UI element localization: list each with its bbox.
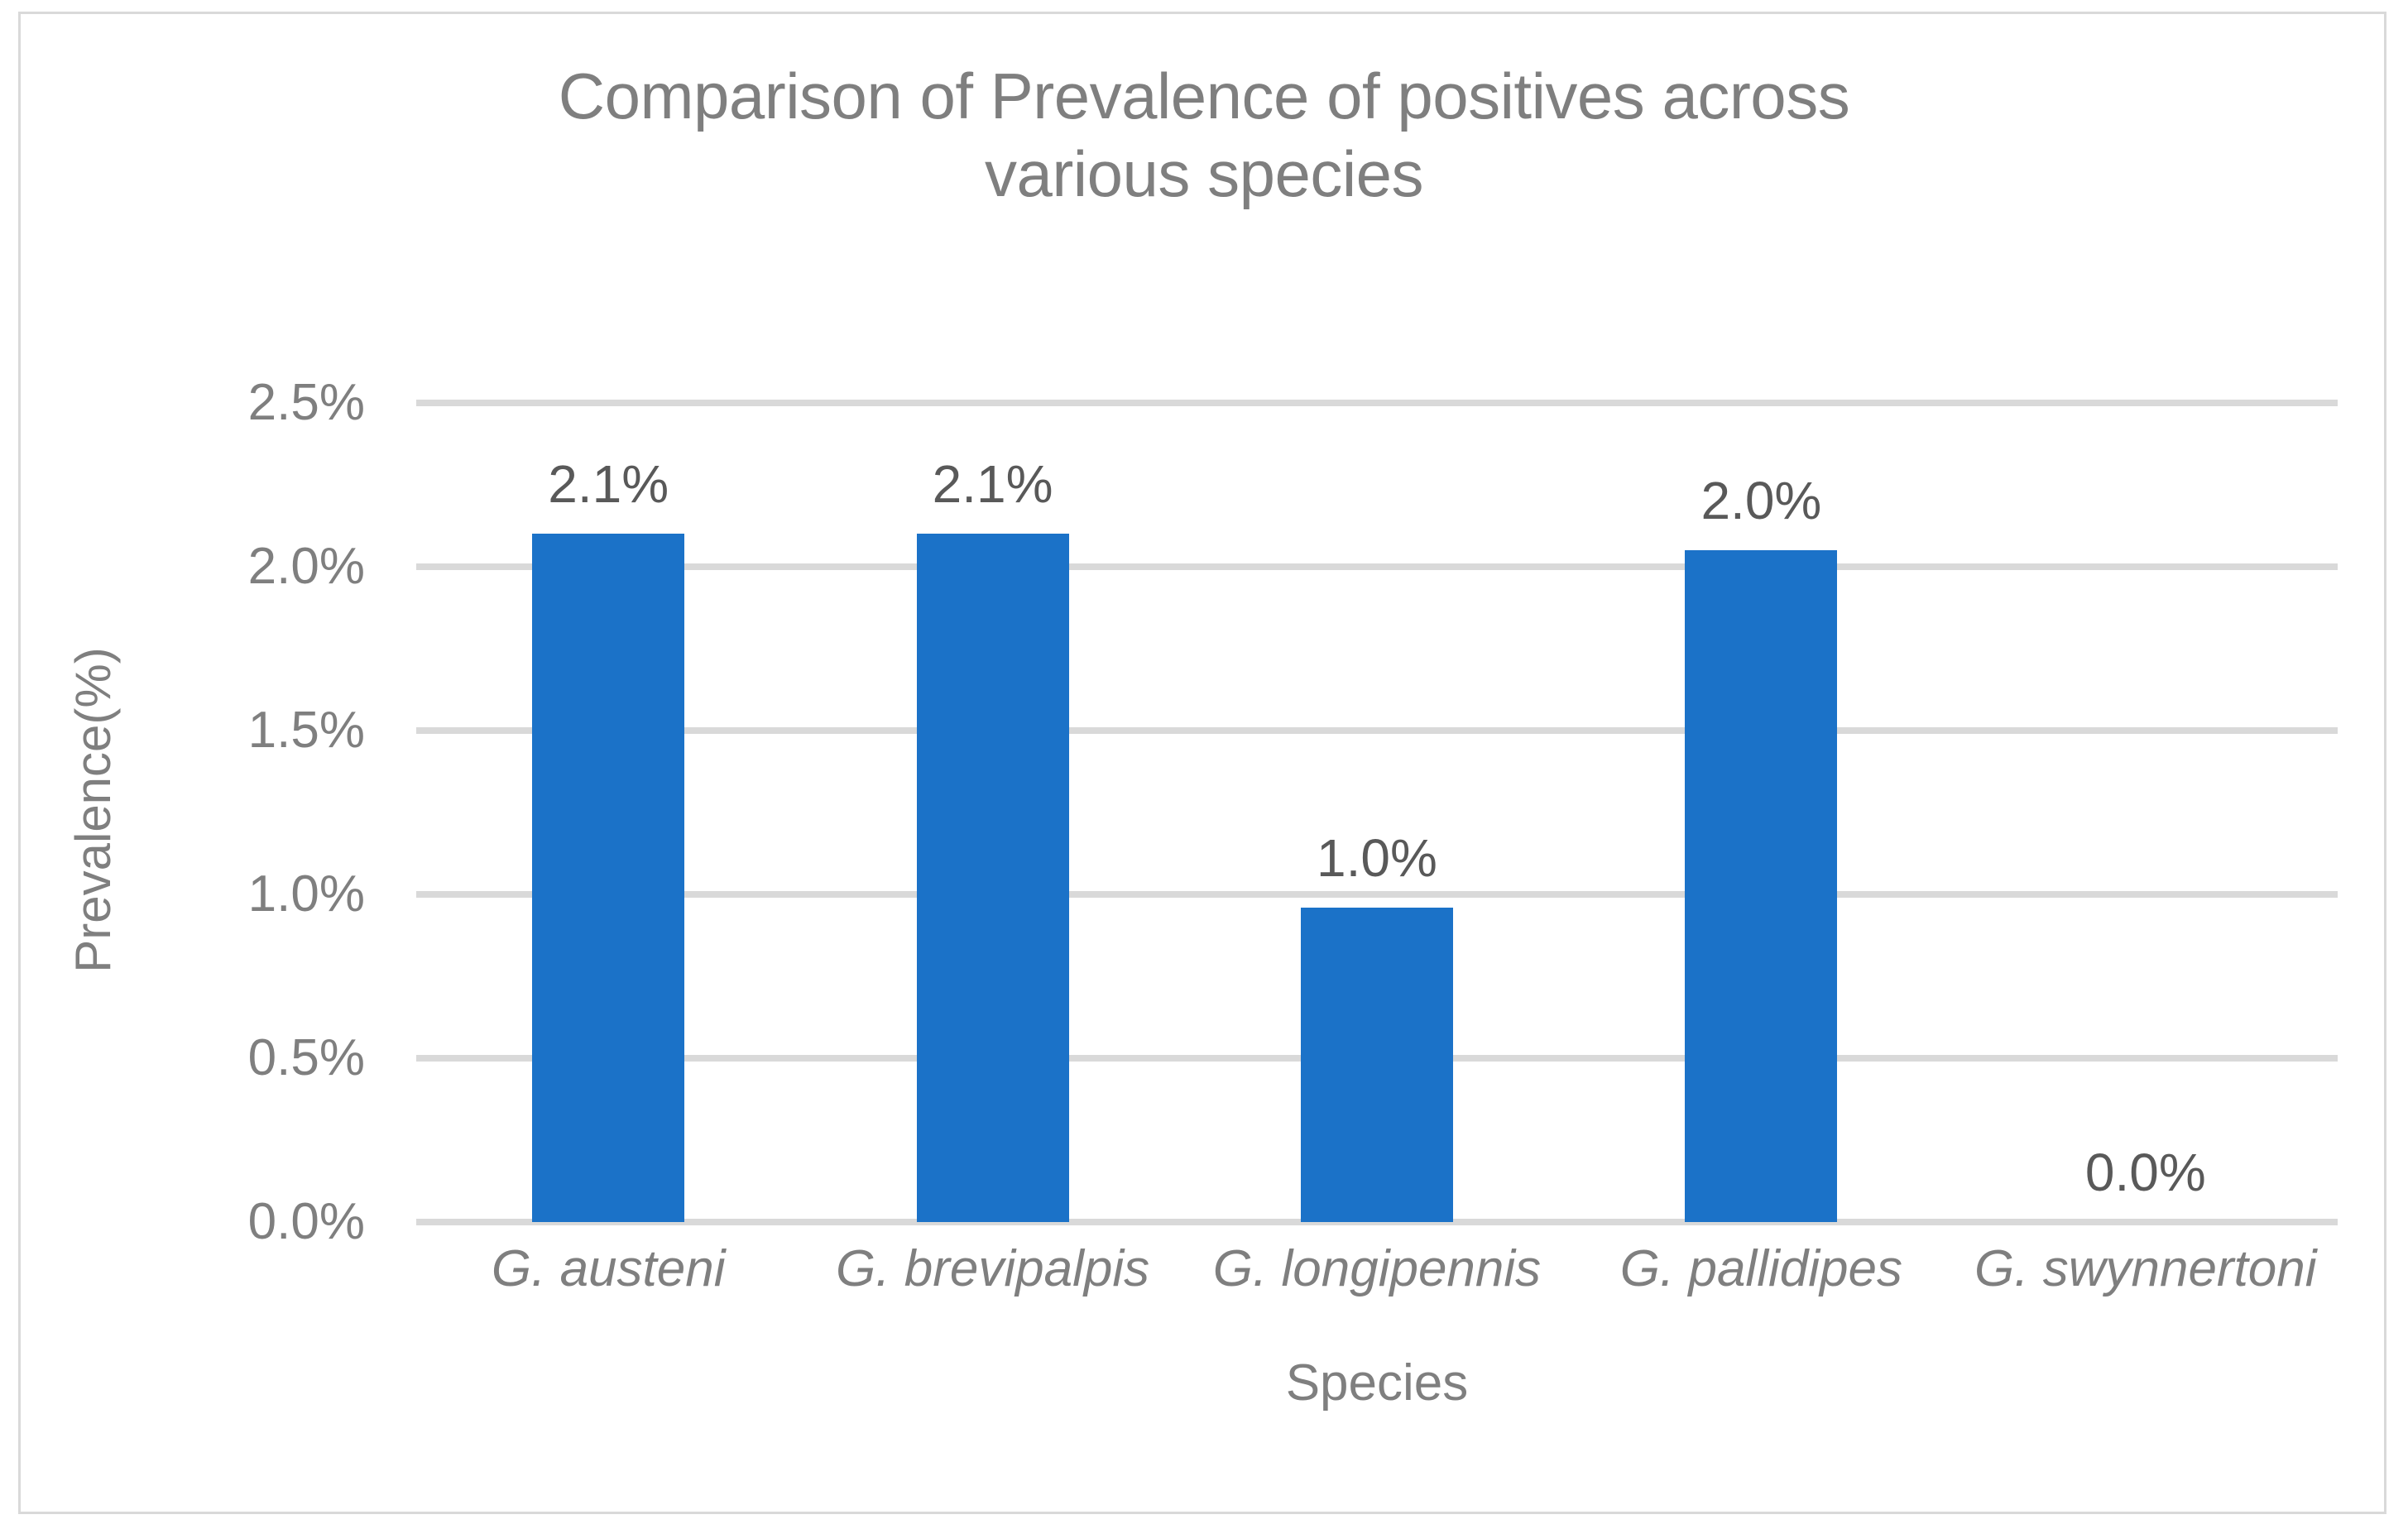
bar-value-label: 2.0% — [1700, 474, 1821, 527]
y-axis-tick-label: 2.5% — [248, 377, 365, 429]
bar[interactable] — [917, 534, 1069, 1222]
bar-slot: 2.1% — [800, 403, 1184, 1222]
x-axis-tick-label: G. swynnertoni — [1954, 1235, 2338, 1303]
bar-value-label: 0.0% — [2085, 1146, 2206, 1199]
y-axis-tick-label: 0.5% — [248, 1033, 365, 1084]
chart-title-line-1: Comparison of Prevalence of positives ac… — [170, 57, 2238, 135]
x-axis-tick-label: G. brevipalpis — [800, 1235, 1184, 1303]
y-axis-tick-label: 0.0% — [248, 1196, 365, 1248]
bar[interactable] — [1685, 550, 1837, 1222]
x-axis-tick-label: G. pallidipes — [1569, 1235, 1953, 1303]
x-axis-tick-labels: G. austeniG. brevipalpisG. longipennisG.… — [416, 1235, 2338, 1310]
y-axis-tick-label: 1.5% — [248, 705, 365, 756]
bar-value-label: 2.1% — [548, 458, 669, 510]
bar-slot: 1.0% — [1185, 403, 1569, 1222]
chart-title: Comparison of Prevalence of positives ac… — [170, 57, 2238, 213]
bar-slot: 2.0% — [1569, 403, 1953, 1222]
bar[interactable] — [1301, 908, 1453, 1222]
x-axis-tick-label: G. austeni — [416, 1235, 800, 1303]
chart-frame: Comparison of Prevalence of positives ac… — [18, 12, 2386, 1514]
bar-slot: 0.0% — [1954, 403, 2338, 1222]
x-axis-tick-label: G. longipennis — [1185, 1235, 1569, 1303]
y-axis-tick-labels: 2.5%2.0%1.5%1.0%0.5%0.0% — [21, 403, 385, 1222]
bar-value-label: 1.0% — [1317, 832, 1437, 884]
y-axis-tick-label: 1.0% — [248, 869, 365, 920]
bar-value-label: 2.1% — [933, 458, 1053, 510]
bar[interactable] — [532, 534, 684, 1222]
chart-title-line-2: various species — [170, 135, 2238, 213]
bars-layer: 2.1%2.1%1.0%2.0%0.0% — [416, 403, 2338, 1222]
x-axis-title: Species — [416, 1354, 2338, 1412]
y-axis-tick-label: 2.0% — [248, 541, 365, 592]
bar-slot: 2.1% — [416, 403, 800, 1222]
